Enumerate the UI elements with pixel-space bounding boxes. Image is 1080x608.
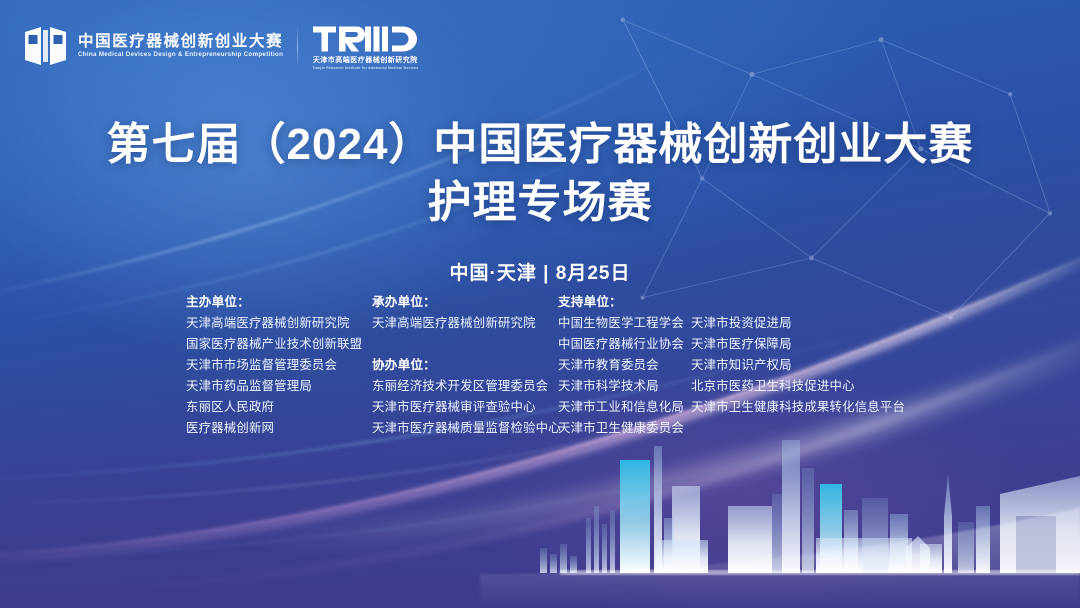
supporter-item: 天津市工业和信息化局 [558, 397, 691, 418]
organizers-column-host: 主办单位： 天津高端医疗器械创新研究院 国家医疗器械产业技术创新联盟 天津市市场… [186, 292, 372, 439]
triid-wordmark-icon [313, 24, 417, 54]
host-item: 国家医疗器械产业技术创新联盟 [186, 334, 372, 355]
host-item: 天津市药品监督管理局 [186, 376, 372, 397]
institute-logo: 天津市高端医疗器械创新研究院 Tianjin Research Institut… [312, 24, 418, 71]
supporter-heading: 支持单位： [558, 292, 691, 313]
title-line-1: 第七届（2024）中国医疗器械创新创业大赛 [0, 116, 1080, 174]
institute-name-cn: 天津市高端医疗器械创新研究院 [313, 57, 418, 64]
organizers-block: 主办单位： 天津高端医疗器械创新研究院 国家医疗器械产业技术创新联盟 天津市市场… [186, 292, 911, 439]
organizers-column-supporter-a: 支持单位： 中国生物医学工程学会 中国医疗器械行业协会 天津市教育委员会 天津市… [558, 292, 691, 439]
host-item: 东丽区人民政府 [186, 397, 372, 418]
competition-logo: 中国医疗器械创新创业大赛 China Medical Devices Desig… [22, 24, 283, 68]
supporter-item: 天津市医疗保障局 [691, 334, 911, 355]
column-spacer [372, 334, 558, 355]
organizer-item: 天津高端医疗器械创新研究院 [372, 313, 558, 334]
supporter-item: 天津市教育委员会 [558, 355, 691, 376]
host-item: 天津高端医疗器械创新研究院 [186, 313, 372, 334]
organizer-heading: 承办单位： [372, 292, 558, 313]
logo-divider [297, 26, 298, 66]
poster-title: 第七届（2024）中国医疗器械创新创业大赛 护理专场赛 [0, 116, 1080, 232]
host-item: 天津市市场监督管理委员会 [186, 355, 372, 376]
supporter-item: 天津市卫生健康科技成果转化信息平台 [691, 397, 911, 418]
competition-name-en: China Medical Devices Design & Entrepren… [78, 52, 283, 59]
competition-name-cn: 中国医疗器械创新创业大赛 [78, 33, 283, 50]
co-organizer-item: 天津市医疗器械审评查验中心 [372, 397, 558, 418]
co-organizer-heading: 协办单位： [372, 355, 558, 376]
event-poster: 中国医疗器械创新创业大赛 China Medical Devices Desig… [0, 0, 1080, 608]
supporter-item: 天津市知识产权局 [691, 355, 911, 376]
supporter-item: 中国生物医学工程学会 [558, 313, 691, 334]
title-line-2: 护理专场赛 [0, 174, 1080, 232]
host-item: 医疗器械创新网 [186, 418, 372, 439]
supporter-item: 天津市卫生健康委员会 [558, 418, 691, 439]
institute-name-en: Tianjin Research Institute for Advanced … [312, 67, 418, 71]
host-heading: 主办单位： [186, 292, 372, 313]
organizers-column-organizer: 承办单位： 天津高端医疗器械创新研究院 协办单位： 东丽经济技术开发区管理委员会… [372, 292, 558, 439]
supporter-item: 北京市医药卫生科技促进中心 [691, 376, 911, 397]
supporter-item: 天津市科学技术局 [558, 376, 691, 397]
co-organizer-item: 东丽经济技术开发区管理委员会 [372, 376, 558, 397]
open-book-door-logo-icon [22, 24, 70, 68]
supporter-item: 天津市投资促进局 [691, 313, 911, 334]
location-date-line: 中国·天津 | 8月25日 [0, 258, 1080, 285]
co-organizer-item: 天津市医疗器械质量监督检验中心 [372, 418, 558, 439]
header-logo-bar: 中国医疗器械创新创业大赛 China Medical Devices Desig… [22, 24, 418, 71]
organizers-column-supporter-b: 天津市投资促进局 天津市医疗保障局 天津市知识产权局 北京市医药卫生科技促进中心… [691, 292, 911, 418]
competition-logo-text: 中国医疗器械创新创业大赛 China Medical Devices Desig… [78, 33, 283, 59]
supporter-item: 中国医疗器械行业协会 [558, 334, 691, 355]
